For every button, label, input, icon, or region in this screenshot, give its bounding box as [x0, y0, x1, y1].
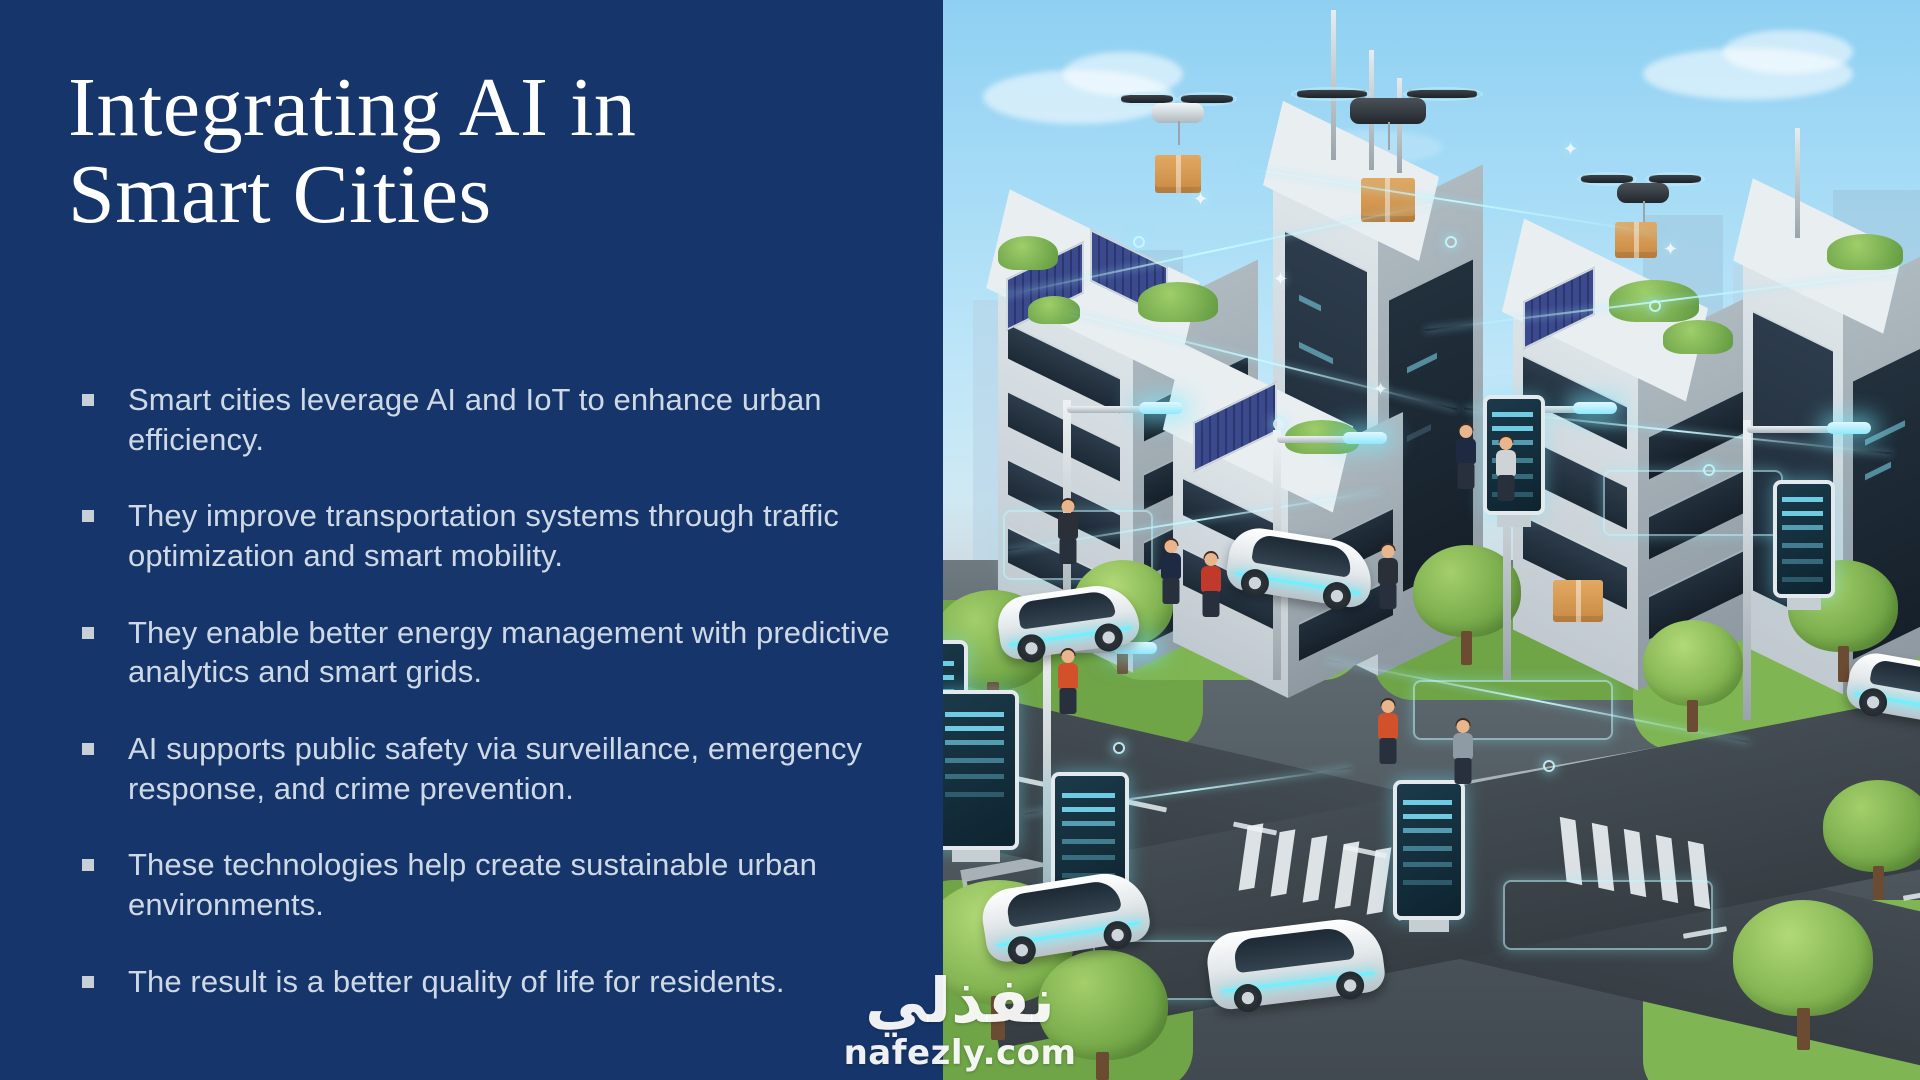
tree — [1038, 950, 1168, 1080]
bullet-marker-icon — [82, 976, 94, 988]
torso — [1456, 438, 1476, 464]
tree-trunk — [1797, 1008, 1810, 1050]
digital-info-kiosk[interactable] — [1393, 780, 1465, 920]
smart-city-illustration: ✦ ✦ ✦ ✦ ✦ — [943, 0, 1920, 1080]
hud-overlay — [1413, 680, 1613, 740]
legs — [1203, 591, 1220, 617]
digital-info-kiosk[interactable] — [943, 690, 1019, 850]
slide-title: Integrating AI in Smart Cities — [68, 64, 888, 239]
head — [1062, 650, 1075, 663]
sparkle-icon: ✦ — [1193, 190, 1208, 208]
kiosk-base — [1497, 515, 1532, 527]
hud-overlay — [1503, 880, 1713, 950]
pedestrian — [1196, 553, 1226, 623]
tree-trunk — [1096, 1052, 1109, 1080]
bullet-text: Smart cities leverage AI and IoT to enha… — [128, 382, 822, 457]
legs — [1455, 758, 1472, 784]
legs — [1060, 538, 1077, 564]
tree — [1643, 620, 1743, 732]
drone-cable — [1178, 121, 1180, 145]
bullet-text: AI supports public safety via surveillan… — [128, 731, 862, 806]
tree-canopy — [1733, 900, 1873, 1016]
delivery-drone — [1303, 90, 1473, 170]
green-roof — [1028, 296, 1080, 324]
bullet-marker-icon — [82, 743, 94, 755]
tree — [1733, 900, 1873, 1050]
text-panel: Integrating AI in Smart Cities Smart cit… — [0, 0, 943, 1080]
head — [1382, 700, 1395, 713]
legs — [1060, 688, 1077, 714]
drone-body — [1350, 98, 1426, 124]
kiosk-base — [1409, 920, 1449, 932]
iot-node — [1133, 236, 1145, 248]
legs — [1498, 475, 1515, 501]
pedestrian — [1451, 425, 1481, 495]
tree-trunk — [991, 996, 1005, 1040]
head — [1382, 545, 1395, 558]
tree-trunk — [1873, 866, 1884, 900]
drone-cable — [1388, 122, 1390, 150]
sparkle-icon: ✦ — [1663, 240, 1678, 258]
drone-package — [1155, 155, 1201, 193]
pedestrian — [1448, 720, 1478, 792]
head — [1457, 720, 1470, 733]
bullet-item: The result is a better quality of life f… — [76, 962, 906, 1002]
iot-node — [1445, 236, 1457, 248]
pedestrian — [1156, 540, 1186, 610]
head — [1165, 540, 1178, 553]
kiosk-screen[interactable] — [943, 690, 1019, 850]
antenna-mast — [1795, 128, 1800, 238]
torso — [1378, 713, 1398, 739]
kiosk-base — [952, 850, 1000, 862]
bullet-text: They enable better energy management wit… — [128, 615, 890, 690]
kiosk-screen[interactable] — [1773, 480, 1835, 598]
torso — [1058, 513, 1078, 539]
bullet-item: AI supports public safety via surveillan… — [76, 729, 906, 808]
lamp-head — [1343, 432, 1387, 444]
torso — [1161, 553, 1181, 579]
bullet-marker-icon — [82, 394, 94, 406]
sparkle-icon: ✦ — [1373, 380, 1388, 398]
green-roof — [998, 236, 1058, 270]
torso — [1378, 558, 1398, 584]
bullet-marker-icon — [82, 510, 94, 522]
bullet-item: They enable better energy management wit… — [76, 613, 906, 692]
bullet-text: They improve transportation systems thro… — [128, 498, 839, 573]
lamp-head — [1827, 422, 1871, 434]
green-roof — [1138, 282, 1218, 322]
bullet-text: These technologies help create sustainab… — [128, 847, 817, 922]
title-line-2: Smart Cities — [68, 148, 492, 241]
tree-canopy — [1823, 780, 1920, 872]
torso — [1058, 663, 1078, 689]
tree-trunk — [1687, 700, 1698, 732]
iot-node — [1649, 300, 1661, 312]
kiosk-base — [1787, 598, 1822, 610]
legs — [1380, 738, 1397, 764]
torso — [1453, 733, 1473, 759]
tree-canopy — [1038, 950, 1168, 1060]
bullet-marker-icon — [82, 627, 94, 639]
iot-node — [1543, 760, 1555, 772]
bullet-item: Smart cities leverage AI and IoT to enha… — [76, 380, 906, 459]
pedestrian — [1491, 437, 1521, 507]
tree-trunk — [1461, 631, 1472, 665]
tree-canopy — [1643, 620, 1743, 706]
lamp-head — [1573, 402, 1617, 414]
cloud — [1063, 52, 1183, 96]
iot-node — [1273, 418, 1285, 430]
lamp-head — [1139, 402, 1183, 414]
bullet-marker-icon — [82, 859, 94, 871]
bullet-item: These technologies help create sustainab… — [76, 845, 906, 924]
delivery-drone — [1123, 95, 1233, 155]
pedestrian — [1053, 650, 1083, 720]
head — [1205, 553, 1218, 566]
legs — [1380, 583, 1397, 609]
drone-body — [1152, 103, 1204, 123]
legs — [1163, 578, 1180, 604]
pedestrian — [1053, 500, 1083, 570]
drone-package — [1361, 178, 1415, 222]
pedestrian — [1373, 545, 1403, 615]
head — [1460, 425, 1473, 438]
head — [1062, 500, 1075, 513]
torso — [1496, 450, 1516, 476]
sparkle-icon: ✦ — [1563, 140, 1578, 158]
green-roof — [1827, 234, 1903, 270]
pedestrian — [1373, 700, 1403, 772]
torso — [1201, 566, 1221, 592]
bullet-text: The result is a better quality of life f… — [128, 964, 785, 999]
legs — [1458, 463, 1475, 489]
cloud — [1723, 30, 1853, 74]
digital-info-kiosk[interactable] — [1773, 480, 1835, 598]
bullet-item: They improve transportation systems thro… — [76, 496, 906, 575]
drone-body — [1617, 183, 1669, 203]
presentation-slide: ✦ ✦ ✦ ✦ ✦ — [0, 0, 1920, 1080]
kiosk-screen[interactable] — [1393, 780, 1465, 920]
head — [1500, 437, 1513, 450]
title-line-1: Integrating AI in — [68, 61, 636, 154]
bullet-list: Smart cities leverage AI and IoT to enha… — [76, 380, 906, 1001]
tree — [1823, 780, 1920, 900]
green-roof — [1663, 320, 1733, 354]
sparkle-icon: ✦ — [1273, 270, 1288, 288]
lamp-pole — [1743, 420, 1751, 720]
